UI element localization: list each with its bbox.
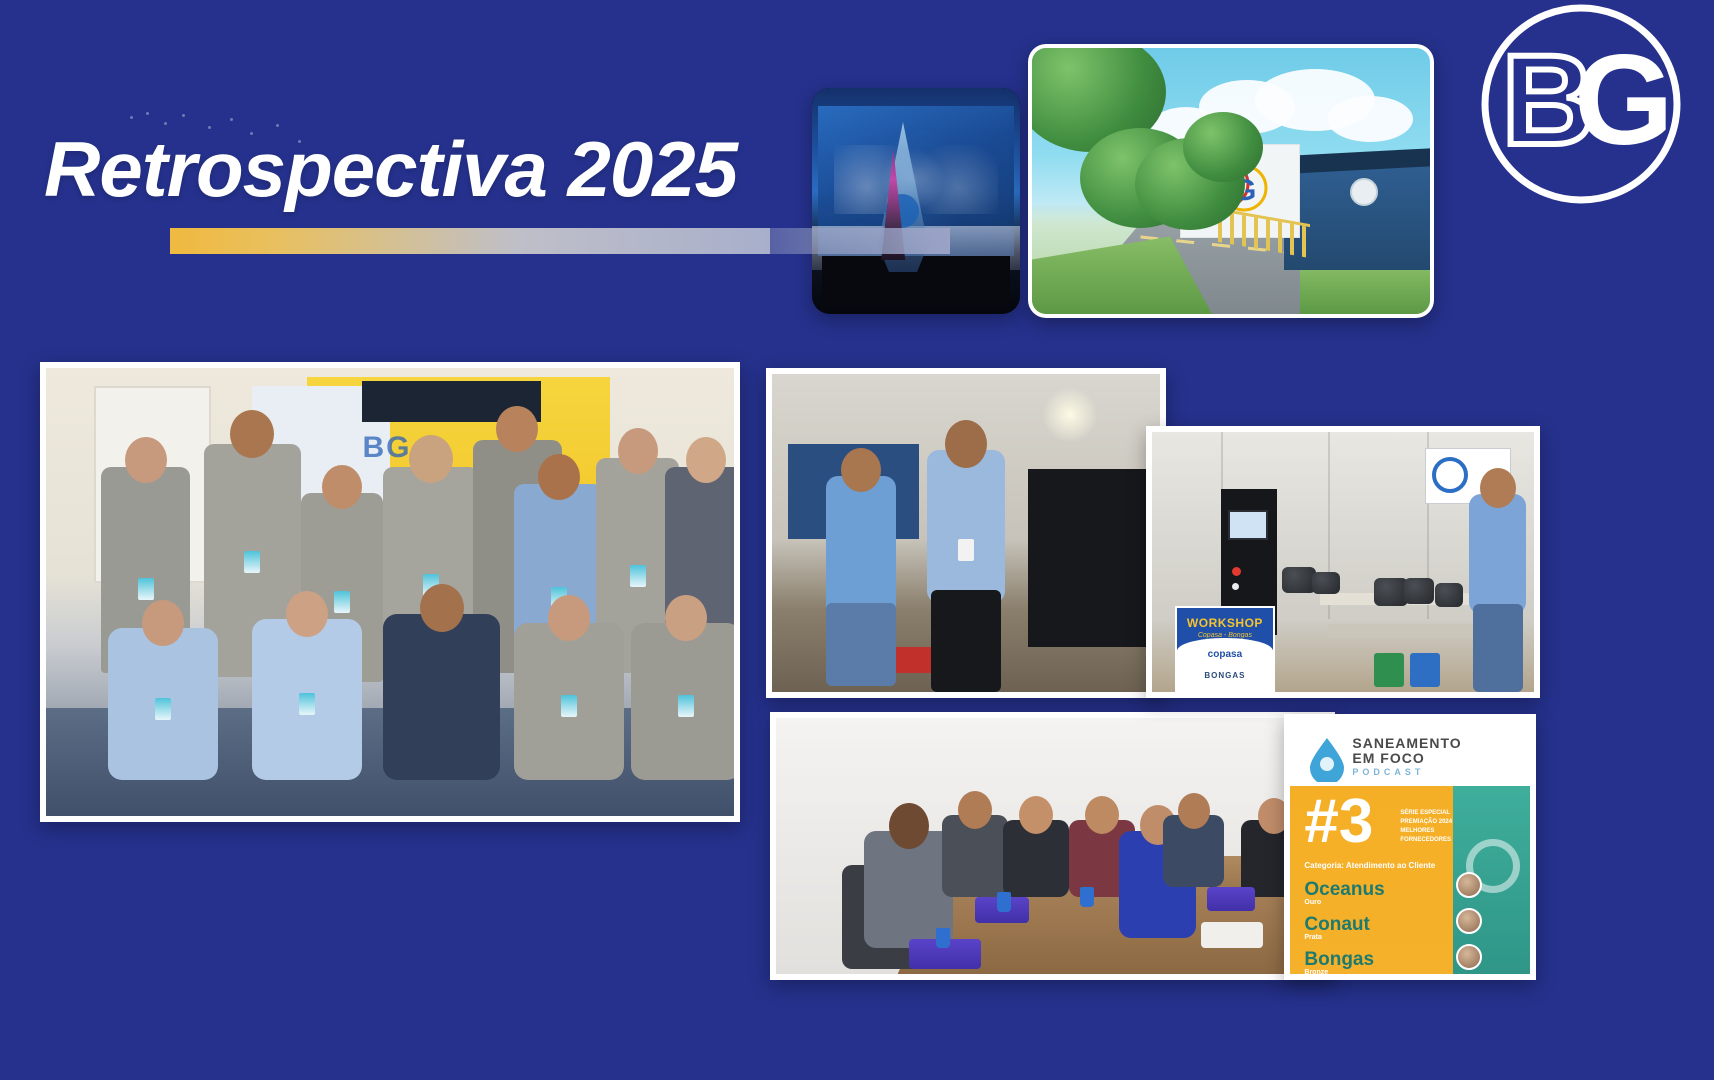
person-seated: [1163, 815, 1224, 887]
workshop-shopfloor-photo[interactable]: [766, 368, 1166, 698]
tree-icon: [1183, 112, 1263, 182]
paper-cup: [1080, 887, 1094, 907]
title-underline-bar: [170, 228, 770, 254]
badge-lanyard: [630, 565, 646, 587]
person-crouching: [514, 623, 624, 780]
bin-blue: [1410, 653, 1440, 687]
podcast-brand-line3: PODCAST: [1352, 767, 1461, 777]
page-title-block: Retrospectiva 2025: [44, 130, 737, 208]
avatar: [1456, 908, 1482, 934]
person-head: [230, 410, 274, 458]
bg-facility-illustration[interactable]: B G: [1028, 44, 1434, 318]
person-head: [409, 435, 453, 483]
person-head: [841, 448, 881, 492]
person-head: [322, 465, 362, 509]
person-head: [686, 437, 726, 483]
workbench-shelf: [1328, 624, 1496, 638]
award-name-1: Oceanus: [1304, 880, 1443, 899]
machine-unit: [1028, 469, 1152, 647]
person-jeans: [826, 603, 896, 686]
podcast-meta-text: SÉRIE ESPECIAL PREMIAÇÃO 2024 MELHORES F…: [1400, 809, 1482, 845]
podcast-guest-avatars: [1456, 872, 1496, 974]
person-seated: [1003, 820, 1069, 897]
bin-green: [1374, 653, 1404, 687]
person-head: [665, 595, 707, 641]
workshop-banner: WORKSHOP Copasa - Bongas copasa BONGAS: [1175, 606, 1275, 692]
podcast-award-list: Oceanus Ouro Conaut Prata Bongas Bronze: [1304, 880, 1443, 974]
person-head: [548, 595, 590, 641]
award-name-3: Bongas: [1304, 950, 1443, 969]
person-head: [420, 584, 464, 632]
podcast-header: SANEAMENTO EM FOCO PODCAST: [1290, 720, 1530, 786]
workshop-lab-photo[interactable]: WORKSHOP Copasa - Bongas copasa BONGAS: [1146, 426, 1540, 698]
paper-cup: [997, 892, 1011, 912]
warehouse-emblem: [1350, 178, 1378, 206]
copasa-logo-text: copasa: [1177, 649, 1273, 660]
person-head: [142, 600, 184, 646]
podcast-body: #3 SÉRIE ESPECIAL PREMIAÇÃO 2024 MELHORE…: [1290, 786, 1530, 974]
avatar: [1456, 944, 1482, 970]
person-head: [286, 591, 328, 637]
badge-lanyard: [138, 578, 154, 600]
badge-lanyard: [958, 539, 974, 561]
bongas-logo-text: BONGAS: [1177, 671, 1273, 680]
podcast-category: Categoria: Atendimento ao Cliente: [1304, 861, 1435, 870]
booth-bg-wordmark: BG: [362, 431, 411, 465]
badge-lanyard: [299, 693, 315, 715]
gift-bag: [1207, 887, 1255, 911]
person-head: [1178, 793, 1210, 829]
cloud-icon: [1327, 96, 1413, 142]
workshop-banner-white-area: [1177, 638, 1273, 690]
bg-logo: B G: [1466, 0, 1696, 222]
podcast-poster[interactable]: SANEAMENTO EM FOCO PODCAST #3 SÉRIE ESPE…: [1284, 714, 1536, 980]
valve-actuator: [1435, 583, 1463, 607]
slide-canvas: Retrospectiva 2025 B G: [0, 0, 1714, 1080]
badge-lanyard: [561, 695, 577, 717]
award-name-2: Conaut: [1304, 915, 1443, 934]
award-ceremony-photo[interactable]: [812, 88, 1020, 314]
team-group-photo[interactable]: BG: [40, 362, 740, 822]
person-standing: [1469, 494, 1526, 614]
person-head: [1085, 796, 1119, 834]
person-head: [1019, 796, 1053, 834]
person-crouching: [252, 619, 362, 780]
projector: [1201, 922, 1263, 948]
ceiling-lamp-icon: [1042, 387, 1098, 443]
award-place-2: Prata: [1304, 934, 1443, 941]
recycling-bins: [1374, 653, 1444, 687]
badge-lanyard: [678, 695, 694, 717]
person-head: [1480, 468, 1516, 508]
meeting-room-photo-image: [776, 718, 1329, 974]
paper-cup: [936, 928, 950, 948]
workshop-banner-title: WORKSHOP: [1177, 616, 1273, 630]
award-place-1: Ouro: [1304, 899, 1443, 906]
person-head: [496, 406, 538, 452]
valve-actuator: [1404, 578, 1434, 604]
award-ceremony-photo-image: [812, 88, 1020, 314]
podcast-poster-image: SANEAMENTO EM FOCO PODCAST #3 SÉRIE ESPE…: [1290, 720, 1530, 974]
valve-actuator: [1282, 567, 1316, 593]
meeting-room-photo[interactable]: [770, 712, 1335, 980]
avatar: [1456, 872, 1482, 898]
person-head: [538, 454, 580, 500]
badge-lanyard: [155, 698, 171, 720]
person-crouching: [383, 614, 500, 780]
valve-actuator: [1312, 572, 1340, 594]
person-seated: [942, 815, 1008, 897]
bg-facility-illustration-image: B G: [1032, 48, 1430, 314]
person-head: [618, 428, 658, 474]
badge-lanyard: [334, 591, 350, 613]
water-drop-logo-icon: [1307, 736, 1347, 782]
podcast-brand-line1: SANEAMENTO: [1352, 736, 1461, 751]
podcast-brand-line2: EM FOCO: [1352, 751, 1461, 766]
person-head: [945, 420, 987, 468]
person-trousers: [931, 590, 1001, 692]
person-head: [889, 803, 929, 849]
workshop-shopfloor-photo-image: [772, 374, 1160, 692]
page-title: Retrospectiva 2025: [44, 130, 737, 208]
person-crouching: [108, 628, 218, 780]
valve-actuator: [1374, 578, 1408, 606]
hmi-touchscreen: [1228, 510, 1268, 540]
person-standing: [927, 450, 1005, 603]
team-group-photo-image: BG: [46, 368, 734, 816]
svg-text:G: G: [1574, 29, 1674, 172]
person-head: [125, 437, 167, 483]
indicator-light-icon: [1232, 583, 1239, 590]
person-jeans: [1473, 604, 1523, 692]
podcast-brand: SANEAMENTO EM FOCO PODCAST: [1352, 736, 1461, 777]
badge-lanyard: [244, 551, 260, 573]
workshop-lab-photo-image: WORKSHOP Copasa - Bongas copasa BONGAS: [1152, 432, 1534, 692]
podcast-episode-number: #3: [1304, 794, 1373, 850]
person-crouching: [631, 623, 734, 780]
person-head: [958, 791, 992, 829]
